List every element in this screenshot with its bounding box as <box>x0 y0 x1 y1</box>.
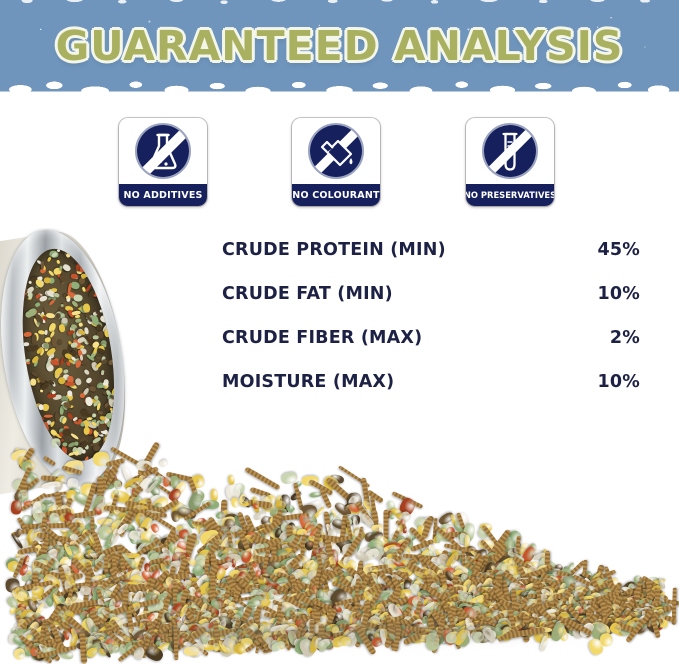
table-row: CRUDE PROTEIN (MIN) 45% <box>222 240 640 284</box>
test-tube-no-preservatives-icon <box>466 118 554 184</box>
guaranteed-analysis-table: CRUDE PROTEIN (MIN) 45% CRUDE FAT (MIN) … <box>222 240 640 416</box>
analysis-label: CRUDE PROTEIN (MIN) <box>222 240 446 260</box>
analysis-value: 10% <box>598 372 641 392</box>
analysis-label: CRUDE FIBER (MAX) <box>222 328 422 348</box>
table-row: MOISTURE (MAX) 10% <box>222 372 640 416</box>
analysis-label: CRUDE FAT (MIN) <box>222 284 393 304</box>
paint-bucket-no-colourant-icon <box>292 118 380 184</box>
analysis-label: MOISTURE (MAX) <box>222 372 394 392</box>
badge-no-colourant: NO COLOURANT <box>292 118 380 206</box>
analysis-value: 45% <box>598 240 641 260</box>
table-row: CRUDE FIBER (MAX) 2% <box>222 328 640 372</box>
photo-ground-shadow <box>30 620 620 646</box>
badge-no-additives: NO ADDITIVES <box>119 118 207 206</box>
badge-label: NO COLOURANT <box>292 184 380 206</box>
badge-no-preservatives: NO PRESERVATIVES <box>466 118 554 206</box>
page-title: GUARANTEED ANALYSIS <box>0 22 679 70</box>
badge-label: NO PRESERVATIVES <box>466 184 554 206</box>
analysis-value: 10% <box>598 284 641 304</box>
certification-badge-row: NO ADDITIVES NO COLOURANT <box>0 118 679 208</box>
table-row: CRUDE FAT (MIN) 10% <box>222 284 640 328</box>
badge-label: NO ADDITIVES <box>119 184 207 206</box>
banner-texture-top-edge <box>0 0 679 24</box>
analysis-value: 2% <box>610 328 640 348</box>
flask-no-additives-icon <box>119 118 207 184</box>
